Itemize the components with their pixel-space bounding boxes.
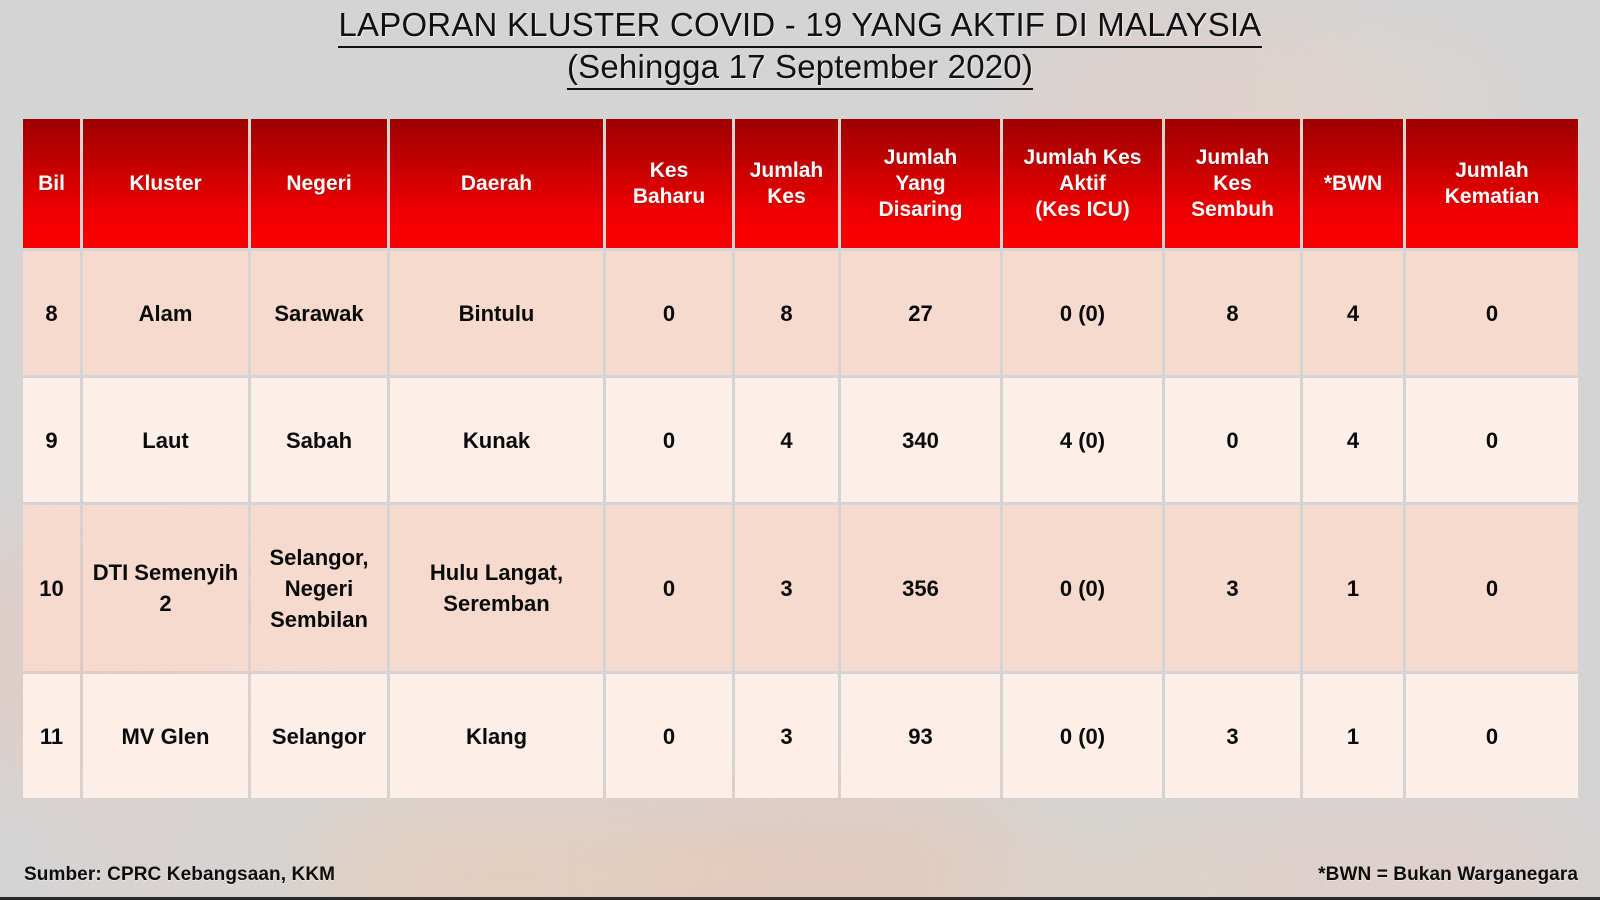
column-header-kes-aktif: Jumlah Kes Aktif (Kes ICU) (1003, 119, 1162, 248)
cell-daerah: Klang (390, 674, 603, 798)
column-header-kematian-l0: Jumlah (1409, 158, 1575, 184)
column-header-kematian: Jumlah Kematian (1406, 119, 1578, 248)
column-header-bil: Bil (23, 119, 80, 248)
cell-kes-aktif-icu: 0 (0) (1003, 505, 1162, 671)
column-header-jumlah-kes-l0: Jumlah (738, 158, 835, 184)
column-header-kes-sembuh: Jumlah Kes Sembuh (1165, 119, 1300, 248)
column-header-kes-sembuh-l0: Jumlah (1168, 145, 1297, 171)
cell-jumlah-disaring: 27 (841, 251, 1000, 375)
cell-daerah: Kunak (390, 378, 603, 502)
cell-daerah: Bintulu (390, 251, 603, 375)
cell-kes-aktif-icu: 0 (0) (1003, 251, 1162, 375)
cell-daerah: Hulu Langat, Seremban (390, 505, 603, 671)
cell-kes-sembuh: 8 (1165, 251, 1300, 375)
footer-bwn-note: *BWN = Bukan Warganegara (1318, 864, 1578, 886)
cell-jumlah-kes: 8 (735, 251, 838, 375)
cell-kes-baharu: 0 (606, 251, 732, 375)
column-header-negeri: Negeri (251, 119, 387, 248)
cell-bil: 10 (23, 505, 80, 671)
table-row: 8 Alam Sarawak Bintulu 0 8 27 0 (0) 8 4 … (23, 251, 1578, 375)
footer-source-label: Sumber: CPRC Kebangsaan, KKM (24, 864, 335, 886)
cell-bil: 9 (23, 378, 80, 502)
cell-kematian: 0 (1406, 378, 1578, 502)
cell-jumlah-disaring: 93 (841, 674, 1000, 798)
cell-kematian: 0 (1406, 251, 1578, 375)
table-row: 10 DTI Semenyih 2 Selangor, Negeri Sembi… (23, 505, 1578, 671)
column-header-daerah-l0: Daerah (393, 171, 600, 197)
cell-kes-sembuh: 0 (1165, 378, 1300, 502)
cell-jumlah-kes: 3 (735, 505, 838, 671)
cell-kes-sembuh: 3 (1165, 674, 1300, 798)
column-header-bwn-l0: *BWN (1306, 171, 1400, 197)
title-line-secondary-text: (Sehingga 17 September 2020) (567, 48, 1033, 90)
cell-jumlah-kes: 3 (735, 674, 838, 798)
column-header-kes-aktif-l0: Jumlah Kes (1006, 145, 1159, 171)
footer: Sumber: CPRC Kebangsaan, KKM *BWN = Buka… (0, 838, 1600, 900)
column-header-kes-baharu-l0: Kes (609, 158, 729, 184)
page-title: LAPORAN KLUSTER COVID - 19 YANG AKTIF DI… (0, 4, 1600, 88)
column-header-jumlah-kes: Jumlah Kes (735, 119, 838, 248)
title-line-secondary: (Sehingga 17 September 2020) (0, 46, 1600, 88)
column-header-kes-sembuh-l2: Sembuh (1168, 197, 1297, 223)
column-header-jumlah-kes-l1: Kes (738, 184, 835, 210)
column-header-bwn: *BWN (1303, 119, 1403, 248)
column-header-kes-baharu: Kes Baharu (606, 119, 732, 248)
cell-bwn: 1 (1303, 505, 1403, 671)
column-header-kes-aktif-l2: (Kes ICU) (1006, 197, 1159, 223)
cell-kluster: Alam (83, 251, 248, 375)
cell-bil: 11 (23, 674, 80, 798)
cluster-report-table: Bil Kluster Negeri Daerah Kes Baharu Jum… (20, 116, 1581, 801)
cell-jumlah-disaring: 340 (841, 378, 1000, 502)
column-header-negeri-l0: Negeri (254, 171, 384, 197)
cell-negeri: Sabah (251, 378, 387, 502)
column-header-daerah: Daerah (390, 119, 603, 248)
column-header-kluster: Kluster (83, 119, 248, 248)
column-header-jumlah-disaring-l0: Jumlah (844, 145, 997, 171)
cell-kematian: 0 (1406, 674, 1578, 798)
table-row: 9 Laut Sabah Kunak 0 4 340 4 (0) 0 4 0 (23, 378, 1578, 502)
column-header-kes-aktif-l1: Aktif (1006, 171, 1159, 197)
column-header-kematian-l1: Kematian (1409, 184, 1575, 210)
cell-jumlah-kes: 4 (735, 378, 838, 502)
column-header-kes-baharu-l1: Baharu (609, 184, 729, 210)
cell-kes-aktif-icu: 0 (0) (1003, 674, 1162, 798)
table-header: Bil Kluster Negeri Daerah Kes Baharu Jum… (23, 119, 1578, 248)
table-body: 8 Alam Sarawak Bintulu 0 8 27 0 (0) 8 4 … (23, 251, 1578, 798)
cell-negeri: Sarawak (251, 251, 387, 375)
column-header-kes-sembuh-l1: Kes (1168, 171, 1297, 197)
column-header-jumlah-disaring-l2: Disaring (844, 197, 997, 223)
cell-kes-aktif-icu: 4 (0) (1003, 378, 1162, 502)
cell-kematian: 0 (1406, 505, 1578, 671)
cell-bwn: 1 (1303, 674, 1403, 798)
cell-kluster: Laut (83, 378, 248, 502)
column-header-bil-l0: Bil (26, 171, 77, 197)
cell-jumlah-disaring: 356 (841, 505, 1000, 671)
table-header-row: Bil Kluster Negeri Daerah Kes Baharu Jum… (23, 119, 1578, 248)
cell-bil: 8 (23, 251, 80, 375)
title-line-primary: LAPORAN KLUSTER COVID - 19 YANG AKTIF DI… (0, 4, 1600, 46)
cell-negeri: Selangor (251, 674, 387, 798)
cell-kes-baharu: 0 (606, 505, 732, 671)
column-header-jumlah-disaring: Jumlah Yang Disaring (841, 119, 1000, 248)
cell-kes-baharu: 0 (606, 378, 732, 502)
title-line-primary-text: LAPORAN KLUSTER COVID - 19 YANG AKTIF DI… (338, 6, 1261, 48)
cell-kes-baharu: 0 (606, 674, 732, 798)
cell-kes-sembuh: 3 (1165, 505, 1300, 671)
table-row: 11 MV Glen Selangor Klang 0 3 93 0 (0) 3… (23, 674, 1578, 798)
column-header-jumlah-disaring-l1: Yang (844, 171, 997, 197)
cell-bwn: 4 (1303, 251, 1403, 375)
cell-kluster: DTI Semenyih 2 (83, 505, 248, 671)
cell-bwn: 4 (1303, 378, 1403, 502)
column-header-kluster-l0: Kluster (86, 171, 245, 197)
cell-negeri: Selangor, Negeri Sembilan (251, 505, 387, 671)
cell-kluster: MV Glen (83, 674, 248, 798)
